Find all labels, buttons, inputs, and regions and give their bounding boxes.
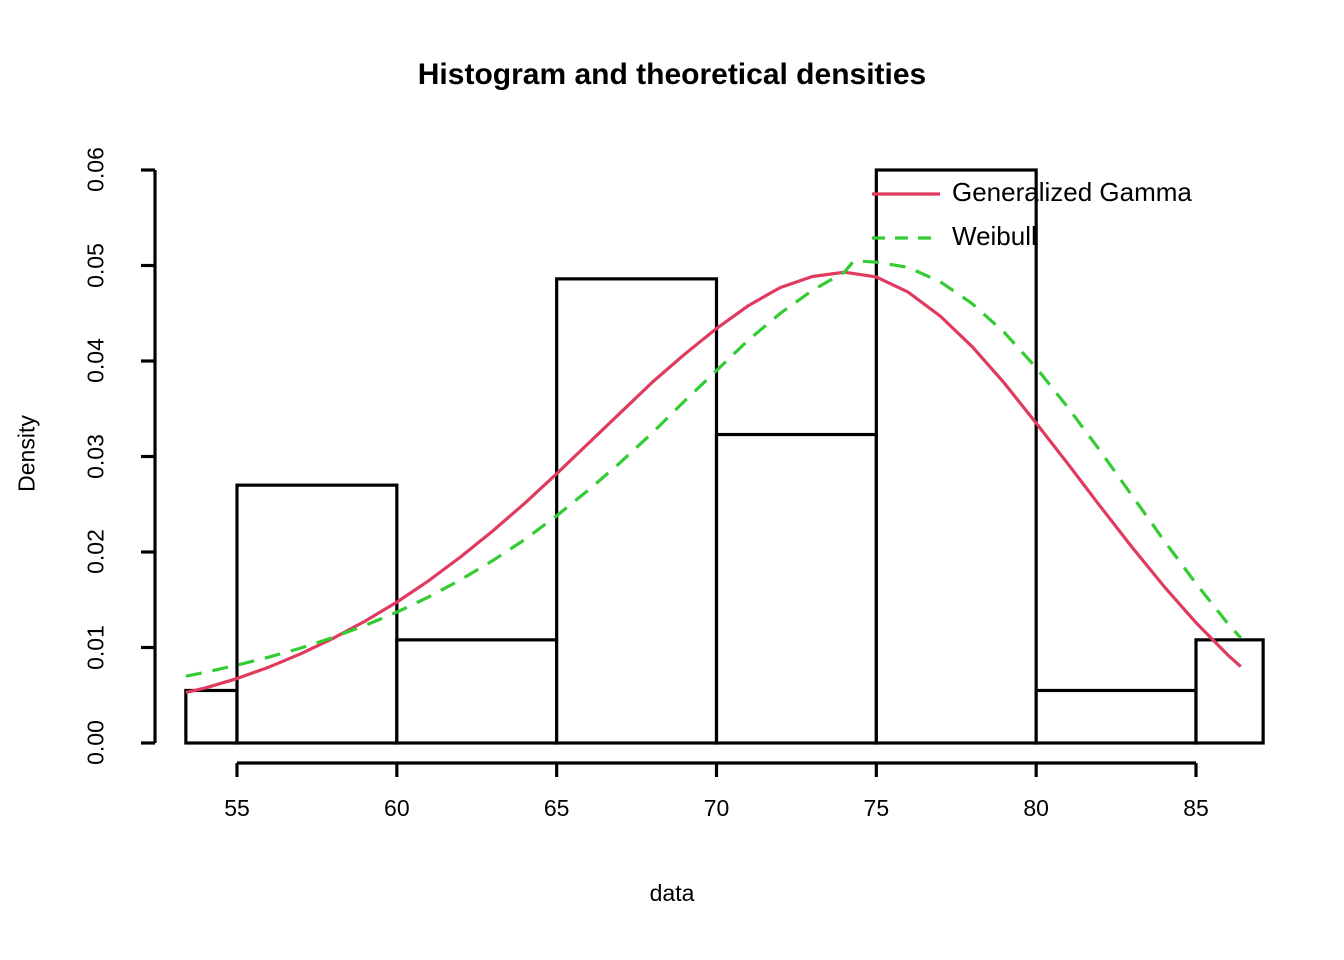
x-axis-title: data <box>0 880 1344 907</box>
x-tick-label: 80 <box>1006 795 1066 822</box>
histogram-bars <box>186 170 1263 743</box>
histogram-bar <box>237 485 397 743</box>
x-tick-label: 70 <box>687 795 747 822</box>
histogram-bar <box>1036 690 1196 743</box>
x-tick-label: 85 <box>1166 795 1226 822</box>
y-tick-label: 0.00 <box>83 708 110 778</box>
legend-item-label: Generalized Gamma <box>952 177 1192 208</box>
y-tick-label: 0.04 <box>83 326 110 396</box>
y-tick-label: 0.01 <box>83 612 110 682</box>
chart-canvas: Histogram and theoretical densities Dens… <box>0 0 1344 960</box>
histogram-bar <box>186 690 237 743</box>
legend-item-label: Weibull <box>952 221 1037 252</box>
y-tick-label: 0.06 <box>83 135 110 205</box>
x-tick-label: 55 <box>207 795 267 822</box>
x-tick-label: 65 <box>527 795 587 822</box>
y-tick-label: 0.02 <box>83 517 110 587</box>
x-tick-label: 75 <box>846 795 906 822</box>
y-tick-label: 0.03 <box>83 421 110 491</box>
x-tick-label: 60 <box>367 795 427 822</box>
histogram-bar <box>717 435 877 743</box>
histogram-bar <box>876 170 1036 743</box>
y-tick-label: 0.05 <box>83 230 110 300</box>
histogram-plot <box>0 0 1344 960</box>
histogram-bar <box>397 640 557 743</box>
y-axis-title: Density <box>14 404 41 504</box>
